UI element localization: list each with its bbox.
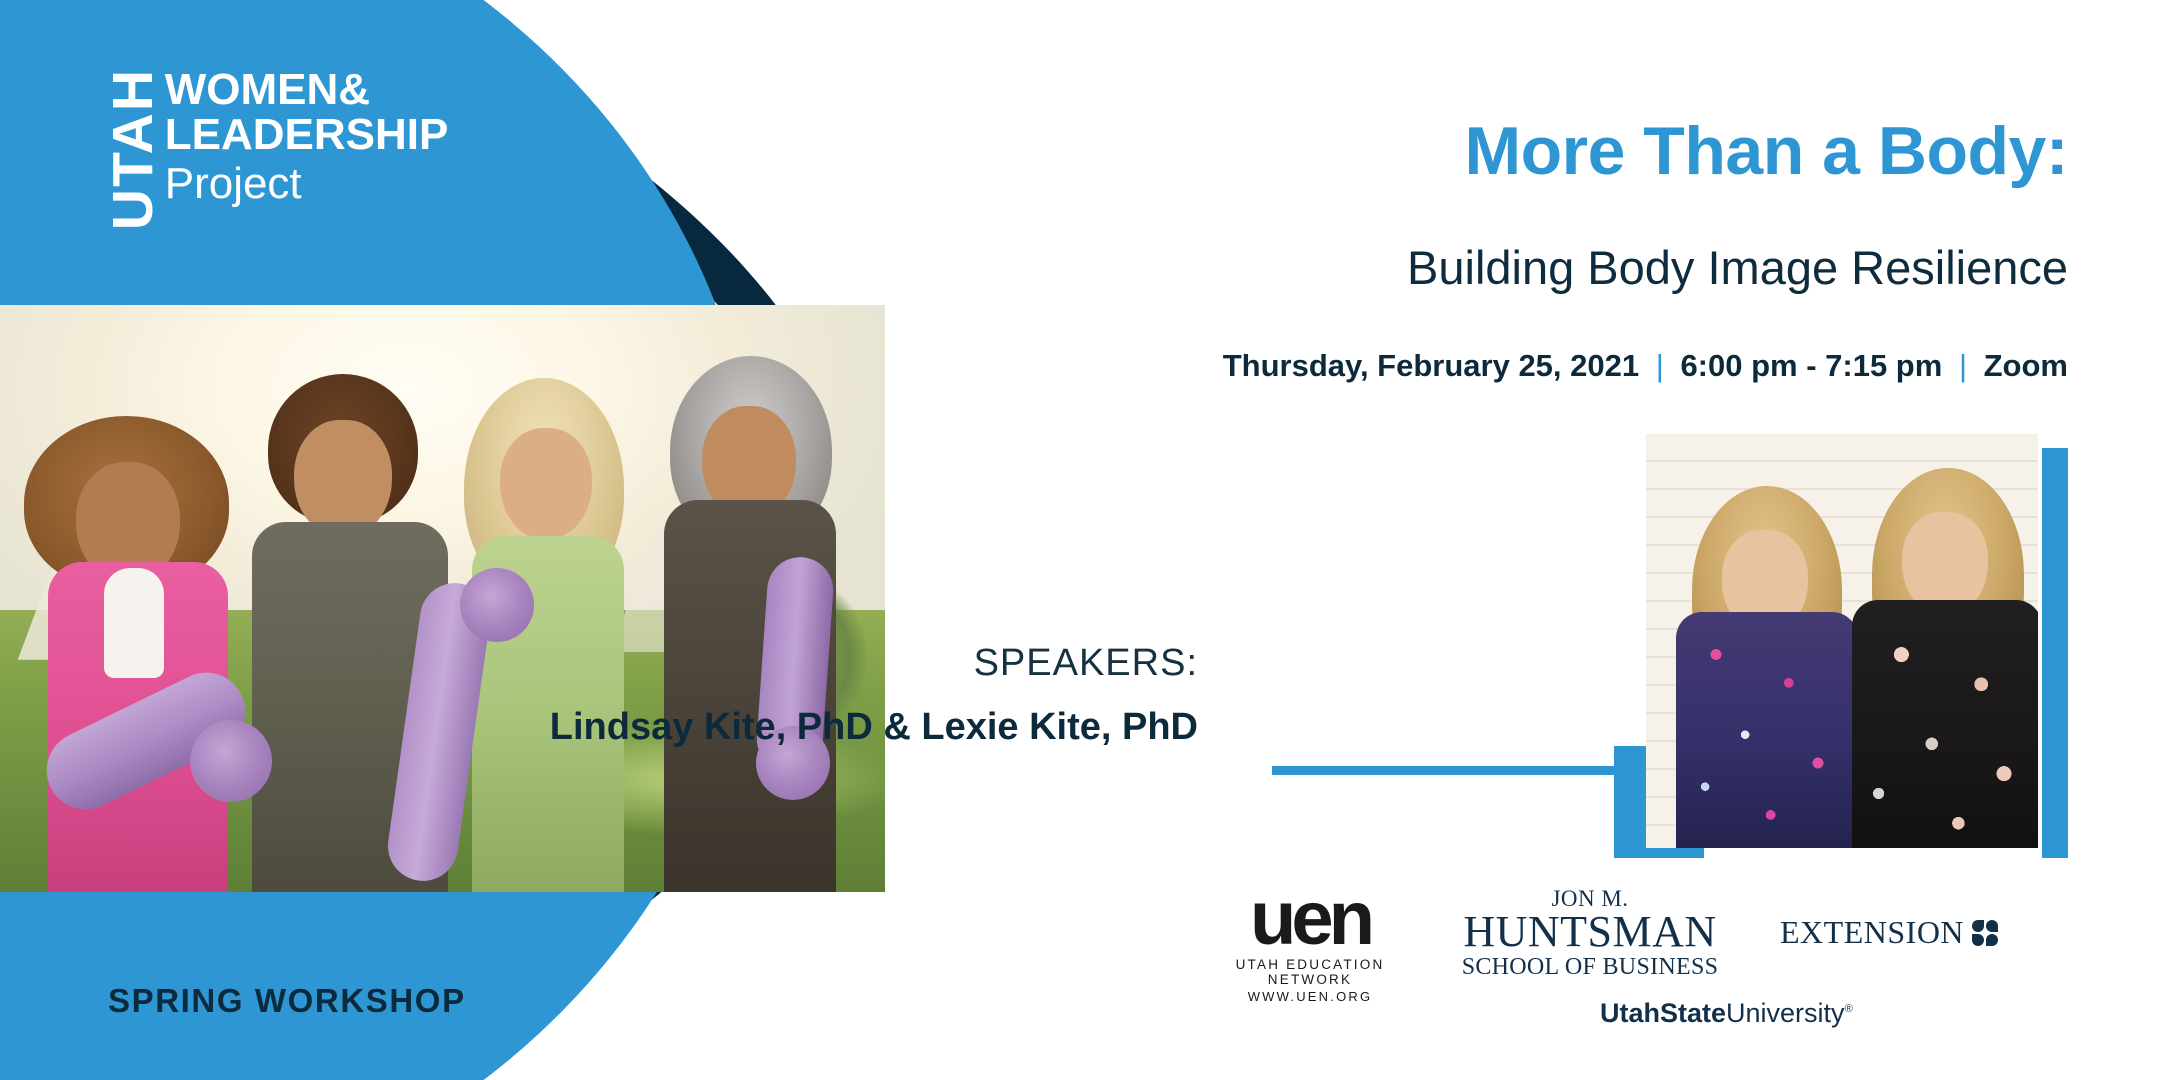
extension-logo: EXTENSION bbox=[1780, 914, 1998, 951]
photo-person bbox=[18, 422, 250, 892]
detail-separator: | bbox=[1959, 348, 1967, 383]
usu-registered-mark: ® bbox=[1845, 1003, 1853, 1015]
page-title: More Than a Body: bbox=[1464, 112, 2068, 190]
event-time: 6:00 pm - 7:15 pm bbox=[1680, 348, 1942, 383]
person-face bbox=[500, 428, 592, 540]
uen-logo: uen UTAH EDUCATION NETWORK WWW.UEN.ORG bbox=[1200, 888, 1420, 1004]
uen-website: WWW.UEN.ORG bbox=[1200, 989, 1420, 1004]
photo-accent-bar-right bbox=[2042, 448, 2068, 858]
detail-separator: | bbox=[1656, 348, 1664, 383]
event-type-label: SPRING WORKSHOP bbox=[108, 982, 466, 1020]
speakers-names: Lindsay Kite, PhD & Lexie Kite, PhD bbox=[550, 706, 1198, 749]
speakers-photo-block bbox=[1632, 434, 2068, 858]
logo-line-project: Project bbox=[165, 160, 449, 208]
walp-logo: UTAH WOMEN& LEADERSHIP Project bbox=[106, 68, 448, 230]
person-undershirt bbox=[104, 568, 164, 678]
left-panel: UTAH WOMEN& LEADERSHIP Project SPRING WO… bbox=[0, 0, 900, 1080]
logo-utah-text: UTAH bbox=[106, 68, 161, 230]
yoga-mat-end bbox=[190, 720, 272, 802]
extension-label: EXTENSION bbox=[1780, 914, 1964, 951]
speaker-floral-dress bbox=[1676, 612, 1858, 848]
usu-regular-text: University bbox=[1726, 998, 1845, 1028]
event-flyer: UTAH WOMEN& LEADERSHIP Project SPRING WO… bbox=[0, 0, 2160, 1080]
logo-line-leadership: LEADERSHIP bbox=[165, 113, 449, 158]
logo-line-women: WOMEN& bbox=[165, 68, 449, 113]
utah-state-university-logo: UtahStateUniversity® bbox=[1600, 998, 1853, 1029]
yoga-mat-end bbox=[460, 568, 534, 642]
four-h-clover-icon bbox=[1972, 920, 1998, 946]
huntsman-logo: JON M. HUNTSMAN SCHOOL OF BUSINESS bbox=[1460, 886, 1720, 981]
uen-subtitle: UTAH EDUCATION NETWORK bbox=[1200, 957, 1420, 987]
hero-photo bbox=[0, 305, 885, 892]
event-platform: Zoom bbox=[1984, 348, 2068, 383]
page-subtitle: Building Body Image Resilience bbox=[1407, 240, 2068, 295]
speaker-portrait bbox=[1668, 492, 1864, 848]
speaker-floral-dress bbox=[1852, 600, 2038, 848]
person-face bbox=[294, 420, 392, 538]
speakers-label: SPEAKERS: bbox=[974, 642, 1198, 685]
speakers-accent-rule bbox=[1272, 766, 1652, 775]
event-details-bar: Thursday, February 25, 2021 | 6:00 pm - … bbox=[1223, 348, 2068, 384]
speakers-photo bbox=[1646, 434, 2038, 848]
uen-wordmark: uen bbox=[1200, 888, 1420, 950]
event-date: Thursday, February 25, 2021 bbox=[1223, 348, 1639, 383]
usu-bold-text: UtahState bbox=[1600, 998, 1726, 1028]
huntsman-line-2: HUNTSMAN bbox=[1460, 910, 1720, 955]
photo-person bbox=[636, 372, 866, 892]
speaker-portrait bbox=[1842, 476, 2038, 848]
huntsman-line-3: SCHOOL OF BUSINESS bbox=[1460, 954, 1720, 981]
sponsor-logo-row: uen UTAH EDUCATION NETWORK WWW.UEN.ORG J… bbox=[1170, 880, 2070, 1060]
logo-wordmark: WOMEN& LEADERSHIP Project bbox=[165, 68, 449, 207]
